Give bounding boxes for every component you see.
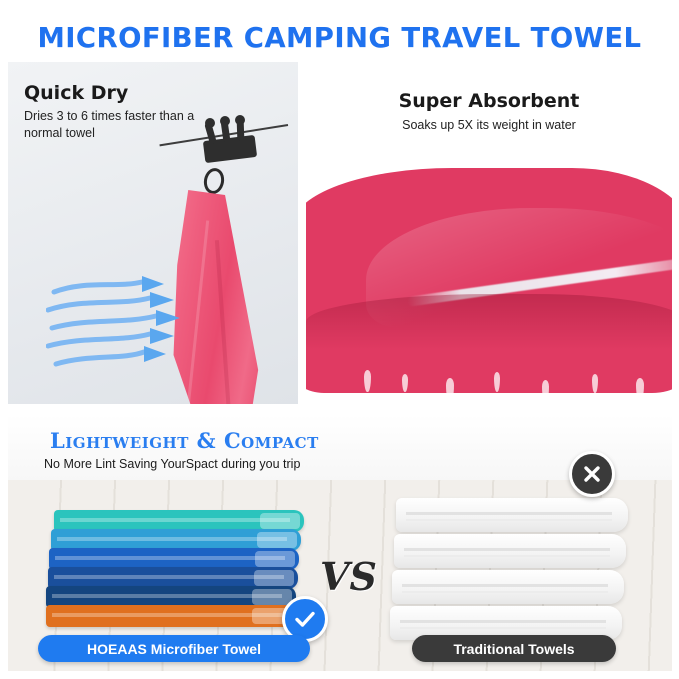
panel-divider-vertical [299,62,305,404]
hook-knob-icon [220,116,230,126]
water-drip-icon [636,378,644,401]
towel-seam [402,591,608,593]
microfiber-towel-stack [46,510,304,636]
vs-label: VS [320,554,377,599]
quick-dry-subtitle: Dries 3 to 6 times faster than a normal … [24,108,204,142]
super-absorbent-title: Super Absorbent [306,90,672,112]
towel-seam [402,584,608,587]
panel-lightweight-compact: Lightweight & Compact No More Lint Savin… [8,414,672,671]
product-infographic: MICROFIBER CAMPING TRAVEL TOWEL Quick Dr… [0,0,679,679]
towel-seam [400,627,606,629]
traditional-towel-stack [390,498,630,648]
page-title: MICROFIBER CAMPING TRAVEL TOWEL [0,22,679,54]
towel-edge [252,589,292,605]
airflow-arrows-icon [46,274,186,384]
towel-fold-shadow [215,240,231,404]
lightweight-title: Lightweight & Compact [50,428,319,453]
towel-seam [406,519,612,521]
left-product-label: HOEAAS Microfiber Towel [38,635,310,662]
white-towel-1 [396,498,628,532]
towel-band [57,537,287,541]
lightweight-subtitle: No More Lint Saving YourSpact during you… [44,457,300,471]
towel-edge [260,513,300,529]
white-towel-3 [392,570,624,604]
water-drip-icon [542,380,549,402]
towel-band [52,594,282,598]
carabiner-clip-icon [202,166,226,195]
towel-edge [254,570,294,586]
white-towel-2 [394,534,626,568]
towel-fold-highlight [185,220,208,404]
towel-seam [404,555,610,557]
water-drip-icon [446,378,454,402]
orange-towel [46,605,296,627]
towel-edge [255,551,295,567]
quick-dry-title: Quick Dry [24,82,128,104]
x-circle-icon [569,451,615,497]
towel-band [54,575,284,579]
towel-seam [406,512,612,515]
panel-quick-dry: Quick Dry Dries 3 to 6 times faster than… [8,62,298,404]
towel-band [55,556,285,560]
panel-super-absorbent: Super Absorbent Soaks up 5X its weight i… [306,62,672,404]
towel-underside-shadow [306,294,672,364]
towel-band [52,613,282,617]
towel-seam [400,620,606,623]
super-absorbent-subtitle: Soaks up 5X its weight in water [306,118,672,132]
towel-edge [257,532,297,548]
towel-seam [404,548,610,551]
panel-divider-horizontal [0,404,679,414]
right-product-label: Traditional Towels [412,635,616,662]
towel-band [60,518,290,522]
hook-knob-icon [235,115,245,125]
hook-knob-icon [205,118,215,128]
